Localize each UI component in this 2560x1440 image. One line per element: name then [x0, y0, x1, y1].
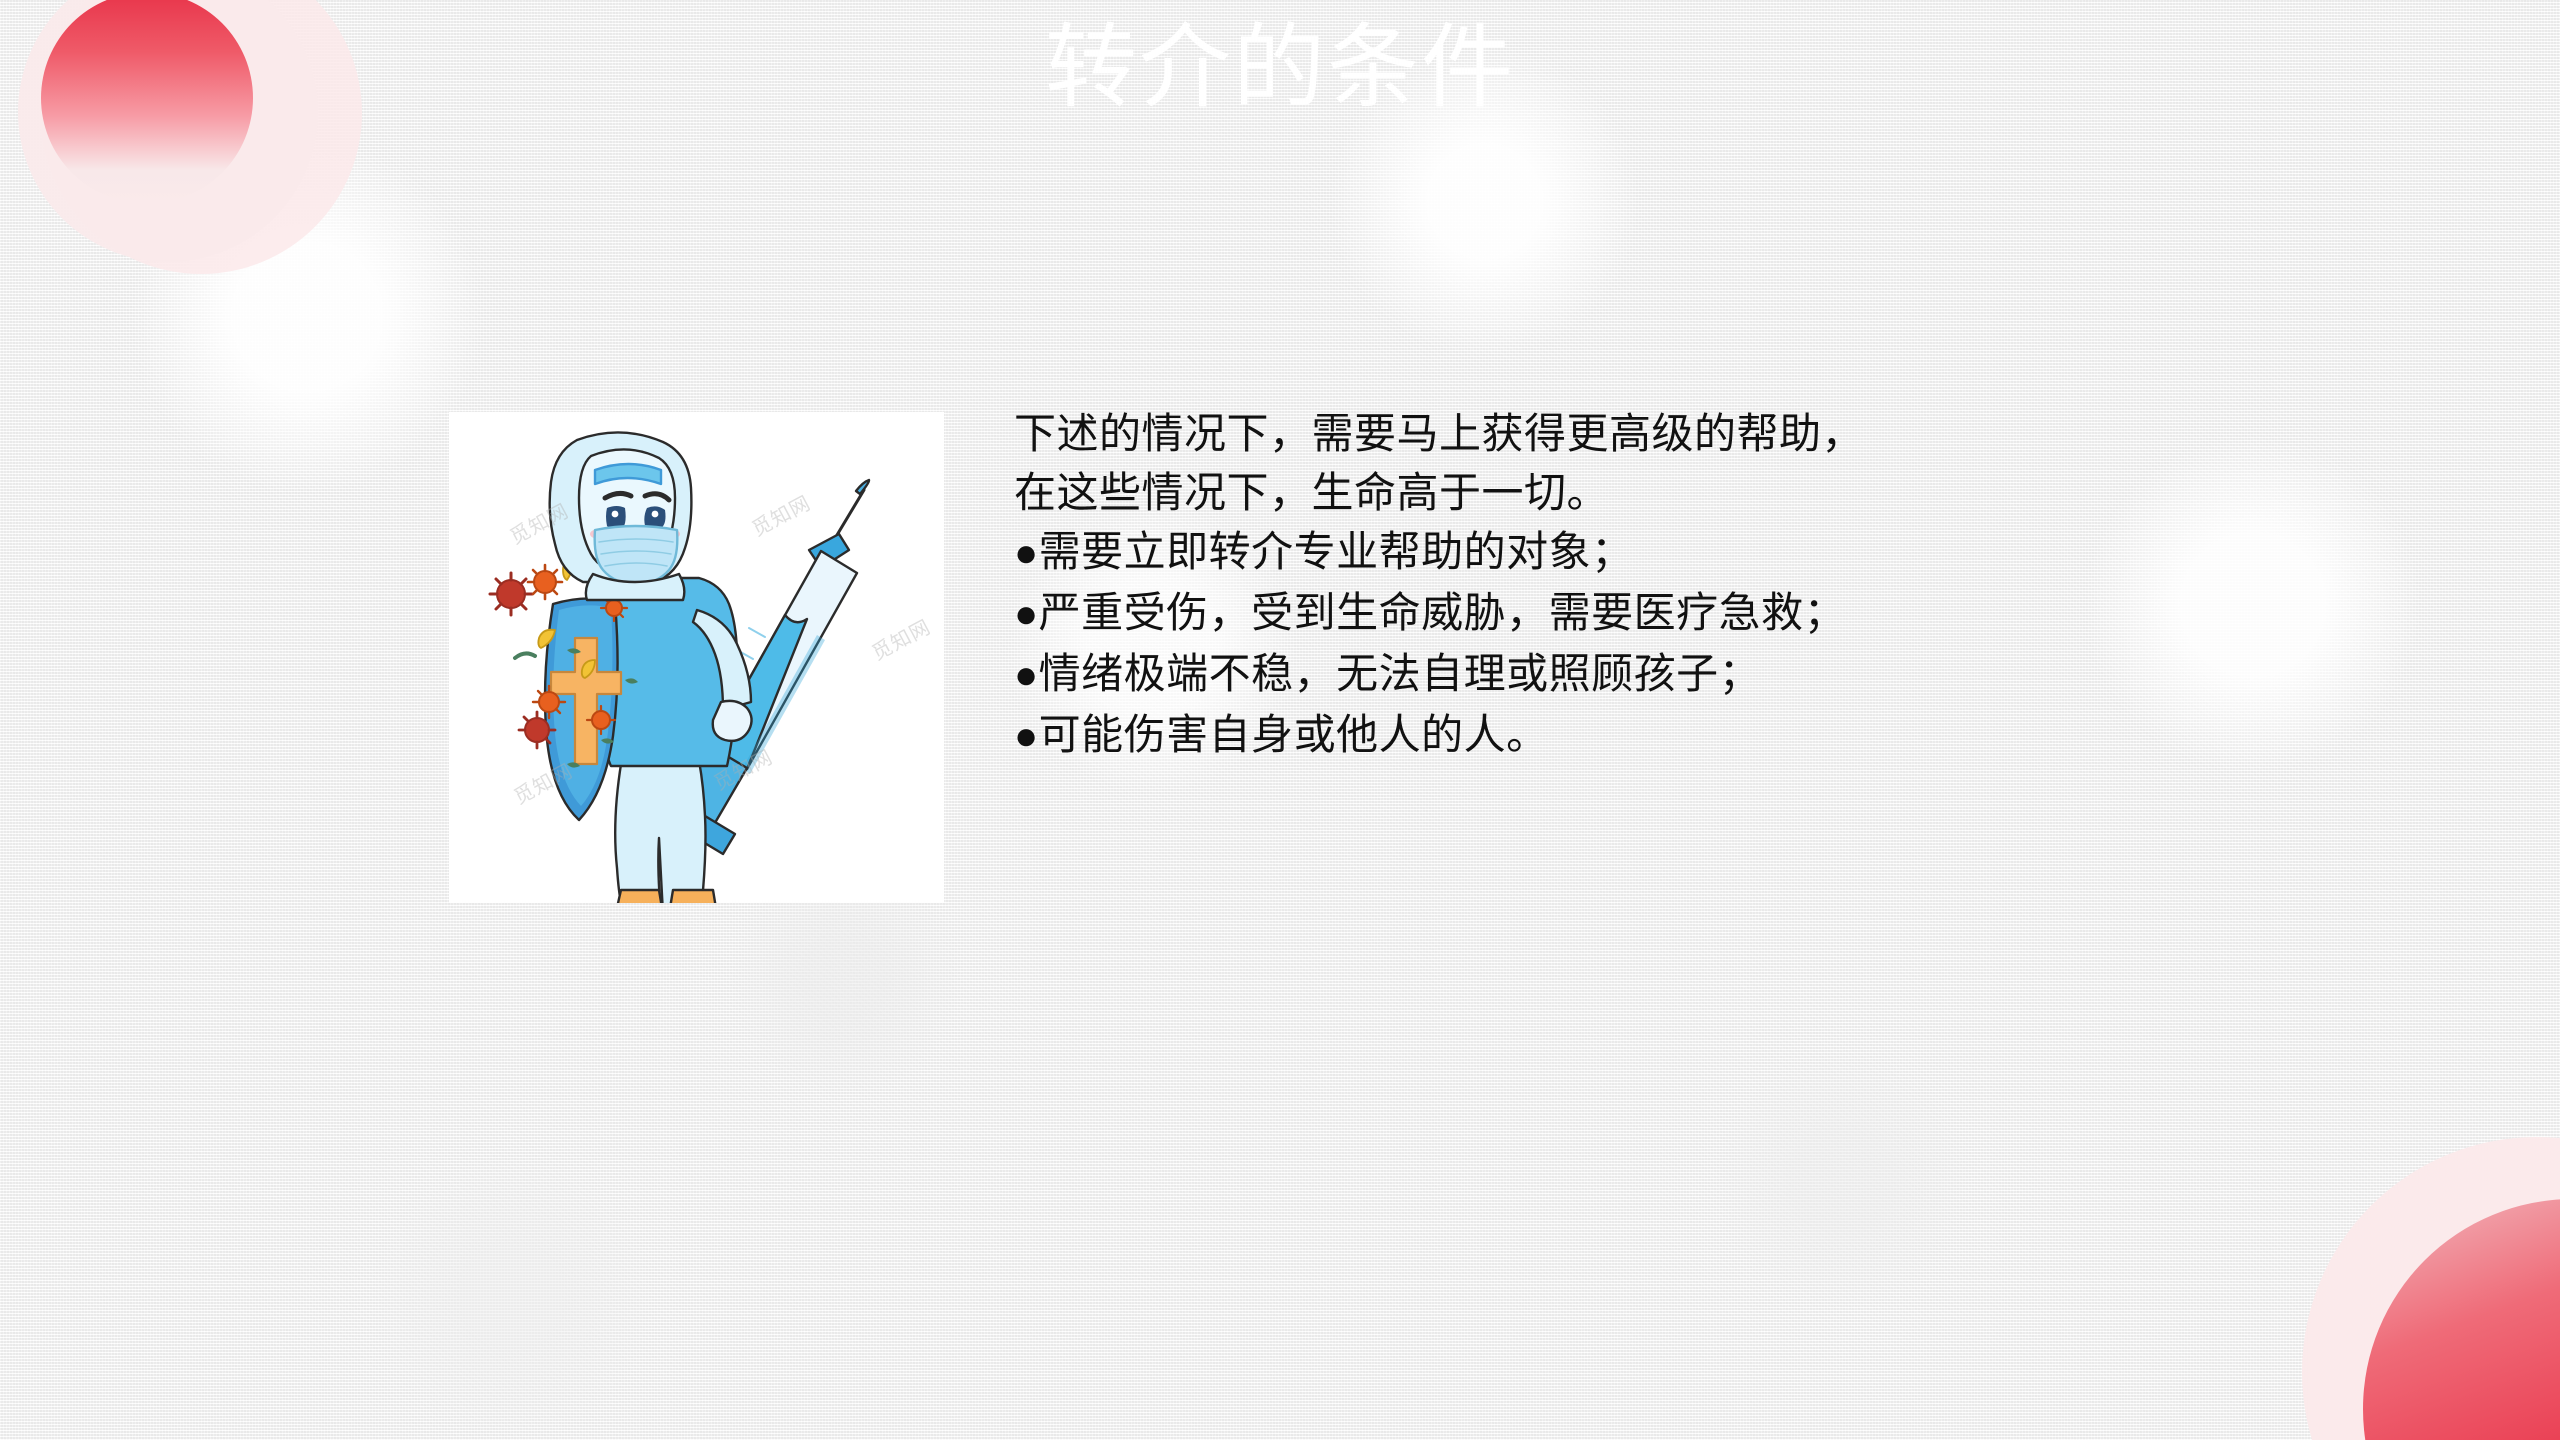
bullet-label: 情绪极端不稳，无法自理或照顾孩子；: [1039, 650, 1762, 697]
bullet-item: ●情绪极端不稳，无法自理或照顾孩子；: [1014, 644, 2214, 705]
bullet-item: ●严重受伤，受到生命威胁，需要医疗急救；: [1014, 583, 2214, 644]
bullet-item: ●需要立即转介专业帮助的对象；: [1014, 522, 2214, 583]
bullet-marker-icon: ●: [1014, 653, 1039, 697]
bullet-marker-icon: ●: [1014, 714, 1039, 758]
intro-line: 下述的情况下，需要马上获得更高级的帮助，: [1014, 404, 2214, 463]
bullet-label: 可能伤害自身或他人的人。: [1039, 711, 1549, 758]
intro-line: 在这些情况下，生命高于一切。: [1014, 463, 2214, 522]
bullet-label: 严重受伤，受到生命威胁，需要医疗急救；: [1039, 589, 1847, 636]
bullet-label: 需要立即转介专业帮助的对象；: [1039, 528, 1634, 575]
illustration-image: 觅知网 觅知网 觅知网 觅知网 觅知网: [449, 412, 944, 903]
bullet-marker-icon: ●: [1014, 531, 1039, 575]
page-title: 转介的条件: [0, 18, 2560, 118]
bottom-right-ring-icon: [2302, 1137, 2560, 1440]
body-text-block: 下述的情况下，需要马上获得更高级的帮助， 在这些情况下，生命高于一切。 ●需要立…: [1014, 404, 2214, 766]
bullet-item: ●可能伤害自身或他人的人。: [1014, 705, 2214, 766]
bullet-marker-icon: ●: [1014, 592, 1039, 636]
bottom-right-circle-icon: [2363, 1199, 2560, 1440]
slide-canvas: 转介的条件: [0, 0, 2560, 1440]
medical-worker-illustration-icon: [449, 412, 944, 903]
